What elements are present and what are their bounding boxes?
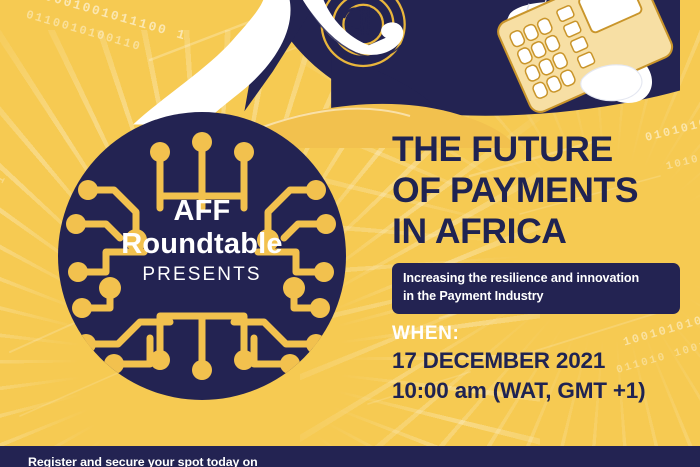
footer-register-text: Register and secure your spot today on (28, 455, 258, 467)
subtitle-badge: Increasing the resilience and innovation… (392, 263, 680, 314)
footer-bar: Register and secure your spot today on (0, 446, 700, 467)
when-date-value: 17 DECEMBER 2021 (392, 346, 645, 375)
subtitle-line-2: in the Payment Industry (403, 288, 669, 306)
when-time-value: 10:00 am (WAT, GMT +1) (392, 376, 645, 405)
subtitle-line-1: Increasing the resilience and innovation (403, 270, 669, 288)
headline-line-1: THE FUTURE (392, 129, 692, 170)
binary-digits-decor: 1001101 (0, 173, 10, 232)
headline-line-2: OF PAYMENTS (392, 170, 692, 211)
when-label: WHEN: (392, 322, 645, 346)
page-title: THE FUTURE OF PAYMENTS IN AFRICA (392, 129, 692, 251)
headline-line-3: IN AFRICA (392, 211, 692, 252)
header-illustration-band (0, 0, 700, 132)
logo-line-aff: AFF (58, 196, 346, 227)
logo-line-presents: PRESENTS (58, 261, 346, 290)
when-block: WHEN: 17 DECEMBER 2021 10:00 am (WAT, GM… (392, 322, 645, 405)
logo-line-roundtable: Roundtable (58, 227, 346, 261)
event-poster: 100100001001011100 1 0110010100110 01010… (0, 0, 700, 467)
logo-text-block: AFF Roundtable PRESENTS (58, 196, 346, 289)
aff-roundtable-logo: AFF Roundtable PRESENTS (58, 112, 346, 400)
